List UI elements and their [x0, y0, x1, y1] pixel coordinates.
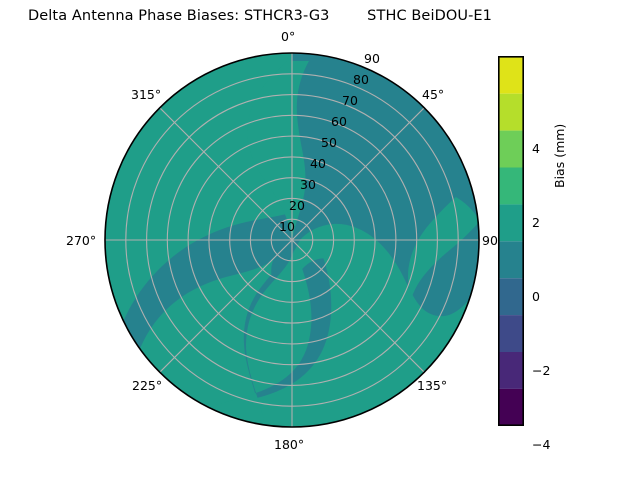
angular-tick-135: 135° [417, 378, 447, 393]
page-title: Delta Antenna Phase Biases: STHCR3-G3 ST… [0, 8, 520, 24]
polar-grid-spokes [105, 53, 479, 427]
radial-tick-60: 60 [331, 114, 347, 129]
polar-axes: 90 80 70 60 50 40 30 20 10 [104, 49, 486, 431]
matplotlib-figure: Delta Antenna Phase Biases: STHCR3-G3 ST… [0, 0, 640, 480]
radial-tick-10: 10 [279, 219, 295, 234]
radial-tick-80: 80 [353, 72, 369, 87]
radial-tick-20: 20 [289, 198, 305, 213]
colorbar-title: Bias (mm) [552, 124, 567, 188]
colorbar-tick-neg4: −4 [532, 437, 550, 452]
radial-tick-90: 90 [364, 51, 380, 66]
angular-tick-180: 180° [274, 437, 304, 452]
colorbar-tick-0: 0 [532, 289, 540, 304]
angular-tick-315: 315° [131, 87, 161, 102]
radial-tick-30: 30 [300, 177, 316, 192]
radial-tick-40: 40 [310, 156, 326, 171]
colorbar-svg [498, 56, 524, 426]
angular-tick-45: 45° [422, 87, 444, 102]
angular-tick-270: 270° [66, 233, 96, 248]
colorbar-tick-4: 4 [532, 141, 540, 156]
polar-plot-svg [104, 49, 486, 431]
colorbar-tick-neg2: −2 [532, 363, 550, 378]
radial-tick-70: 70 [342, 93, 358, 108]
angular-tick-225: 225° [132, 378, 162, 393]
colorbar-bands [499, 57, 523, 425]
colorbar-tick-2: 2 [532, 215, 540, 230]
colorbar: 4 2 0 −2 −4 [498, 56, 524, 426]
radial-tick-50: 50 [321, 135, 337, 150]
angular-tick-0: 0° [281, 29, 295, 44]
